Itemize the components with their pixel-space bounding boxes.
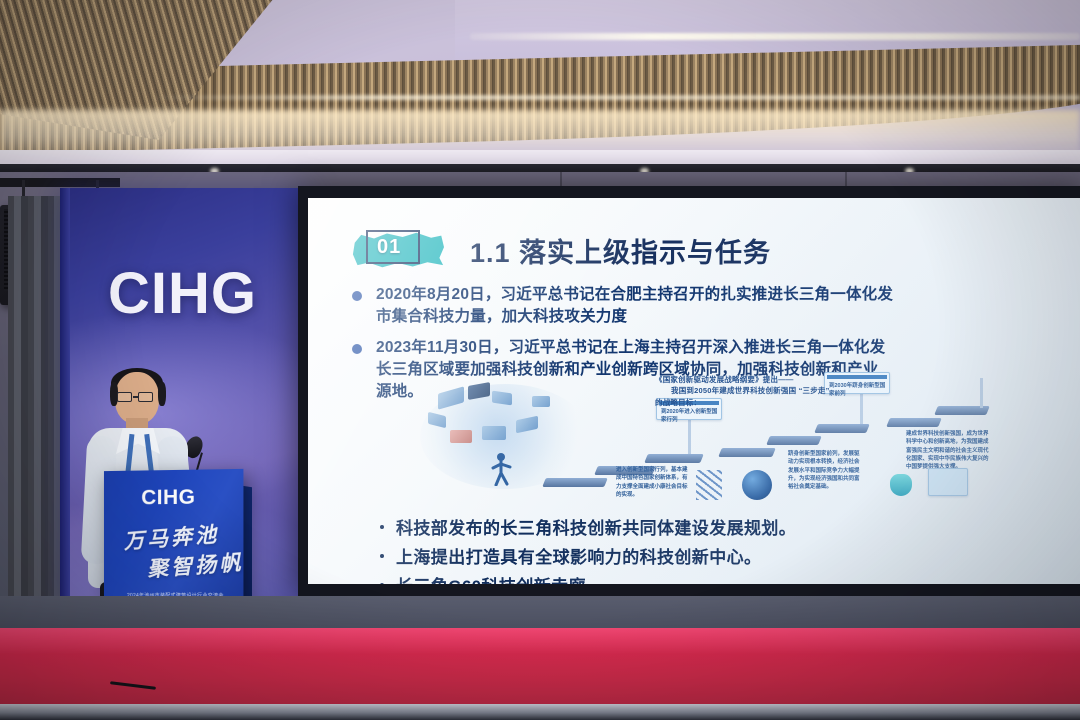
sub-bullet-dot-icon	[380, 554, 384, 558]
banner-left-edge	[60, 188, 70, 608]
stage-edge	[0, 704, 1080, 720]
bullet-text: 2020年8月20日，习近平总书记在合肥主持召开的扎实推进长三角一体化发 市集合…	[376, 284, 893, 328]
podium-calligraphy-line-2: 聚智扬帆	[146, 546, 243, 583]
slide-header: 01 1.1 落实上级指示与任务	[352, 228, 771, 272]
step-card-caption: 到2030年跻身创新型国家前列	[829, 382, 889, 399]
badge-number: 01	[377, 236, 401, 259]
podium-logo-text: CIHG	[141, 486, 195, 511]
sub-bullet-text: 长三角G60科技创新走廊。	[396, 572, 603, 584]
sub-bullet-text: 科技部发布的长三角科技创新共同体建设发展规划。	[396, 514, 796, 539]
stair-step	[814, 424, 870, 433]
bullet-item: 2020年8月20日，习近平总书记在合肥主持召开的扎实推进长三角一体化发 市集合…	[352, 284, 1080, 328]
infographic-quote: 《国家创新驱动发展战略纲要》提出—— 我国到2050年建成世界科技创新强国 “三…	[655, 374, 830, 408]
section-badge: 01	[352, 228, 444, 272]
chip-tile	[482, 426, 506, 440]
bullet-dot-icon	[352, 291, 362, 301]
step-card-caption: 到2020年进入创新型国家行列	[661, 408, 721, 425]
sub-bullet-text: 上海提出打造具有全球影响力的科技创新中心。	[396, 543, 761, 568]
glasses-lens-right	[138, 392, 153, 402]
step-note: 进入创新型国家行列，基本建成中国特色国家创新体系，有力支撑全面建成小康社会目标的…	[616, 466, 692, 499]
wall-base	[0, 596, 1080, 632]
sub-bullet-item: 科技部发布的长三角科技创新共同体建设发展规划。	[380, 514, 796, 539]
step-note: 跻身创新型国家前列，发展驱动力实现根本转换，经济社会发展水平和国际竞争力大幅提升…	[788, 450, 864, 491]
laptop-icon	[928, 468, 968, 496]
slide-title: 1.1 落实上级指示与任务	[470, 231, 771, 270]
hair-side	[158, 382, 166, 406]
carpet-highlight	[0, 628, 1080, 654]
chip-tile	[450, 430, 472, 443]
step-card: 到2030年跻身创新型国家前列	[824, 372, 890, 394]
lighting-truss	[0, 178, 120, 187]
glasses-bridge	[133, 396, 138, 398]
stair-step	[542, 478, 608, 487]
dna-helix-icon	[696, 470, 722, 500]
glasses-lens-left	[117, 392, 132, 402]
flask-icon	[890, 474, 912, 496]
globe-icon	[742, 470, 772, 500]
stair-step	[886, 418, 942, 427]
walking-person-icon	[488, 452, 514, 486]
stair-riser	[688, 420, 691, 454]
step-note: 建成世界科技创新强国，成为世界科学中心和创新高地，为我国建成富强民主文明和谐的社…	[906, 430, 992, 471]
sub-bullet-dot-icon	[380, 525, 384, 529]
sub-bullet-dot-icon	[380, 583, 384, 585]
stair-step	[718, 448, 776, 457]
stair-step	[766, 436, 822, 445]
card-header-bar	[827, 375, 887, 379]
banner-logo-text: CIHG	[108, 260, 257, 327]
quote-line-3: 的战略目标：	[655, 397, 830, 408]
sub-bullet-item: 长三角G60科技创新走廊。	[380, 572, 796, 584]
bullet-dot-icon	[352, 344, 362, 354]
quote-line-1: 《国家创新驱动发展战略纲要》提出——	[655, 374, 830, 385]
presentation-slide: 01 1.1 落实上级指示与任务 2020年8月20日，习近平总书记在合肥主持召…	[308, 198, 1080, 584]
stair-riser	[980, 378, 983, 408]
quote-line-2: 我国到2050年建成世界科技创新强国 “三步走”	[655, 385, 830, 396]
stair-step	[644, 454, 704, 463]
ceiling-light-strip	[470, 33, 1080, 40]
chip-tile	[532, 396, 550, 407]
conference-stage-photo: CIHG 01 1.1 落实上级指示与任务 2020年8月20日，习近平总书记在…	[0, 0, 1080, 720]
slide-infographic: 到2020年进入创新型国家行列 到2030年跻身创新型国家前列 《国家创新驱动发…	[420, 374, 1080, 504]
slide-sub-bullet-list: 科技部发布的长三角科技创新共同体建设发展规划。 上海提出打造具有全球影响力的科技…	[380, 514, 796, 584]
ceiling-light-strip-secondary	[150, 95, 1080, 100]
sub-bullet-item: 上海提出打造具有全球影响力的科技创新中心。	[380, 543, 796, 568]
